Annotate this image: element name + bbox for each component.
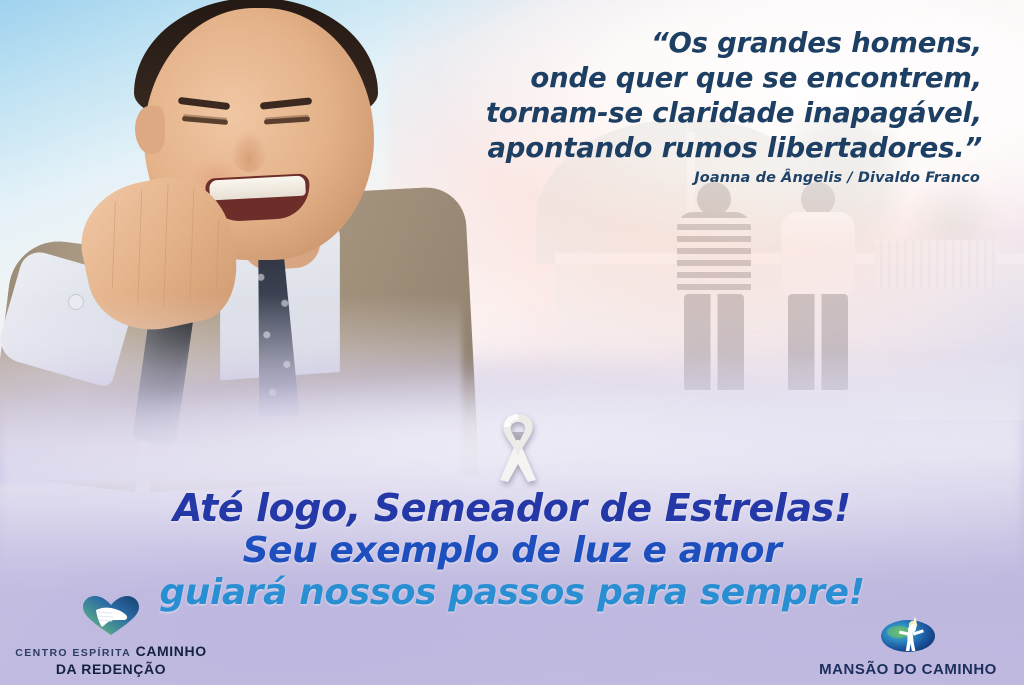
headline-line-1: Até logo, Semeador de Estrelas!: [0, 487, 1024, 530]
white-mourning-ribbon-icon: [486, 412, 550, 486]
portrait-ear: [135, 106, 165, 154]
quote-line-1: “Os grandes homens,: [362, 26, 982, 61]
quote-attribution: Joanna de Ângelis / Divaldo Franco: [694, 170, 980, 186]
logo-mansao-do-caminho[interactable]: MANSÃO DO CAMINHO: [798, 610, 1018, 679]
person-torso: [781, 212, 855, 294]
globe-figure-icon: [798, 610, 1018, 659]
heart-hands-icon: [6, 596, 216, 641]
scene-fence: [875, 240, 997, 288]
person-head: [801, 182, 835, 216]
headline-block: Até logo, Semeador de Estrelas! Seu exem…: [0, 487, 1024, 614]
quote-block: “Os grandes homens, onde quer que se enc…: [362, 26, 982, 166]
portrait-teeth: [209, 176, 306, 201]
person-torso: [677, 212, 751, 294]
person-head: [697, 182, 731, 216]
quote-line-2: onde quer que se encontrem,: [362, 61, 982, 96]
headline-line-2: Seu exemplo de luz e amor: [0, 530, 1024, 572]
quote-line-4: apontando rumos libertadores.”: [362, 131, 982, 166]
logo-centro-espirita[interactable]: CENTRO ESPÍRITA CAMINHO DA REDENÇÃO: [6, 596, 216, 679]
logo-right-line-2: MANSÃO DO CAMINHO: [819, 661, 997, 678]
tribute-poster: “Os grandes homens, onde quer que se enc…: [0, 0, 1024, 685]
logo-left-line-1: CENTRO ESPÍRITA: [15, 647, 131, 659]
quote-line-3: tornam-se claridade inapagável,: [362, 96, 982, 131]
